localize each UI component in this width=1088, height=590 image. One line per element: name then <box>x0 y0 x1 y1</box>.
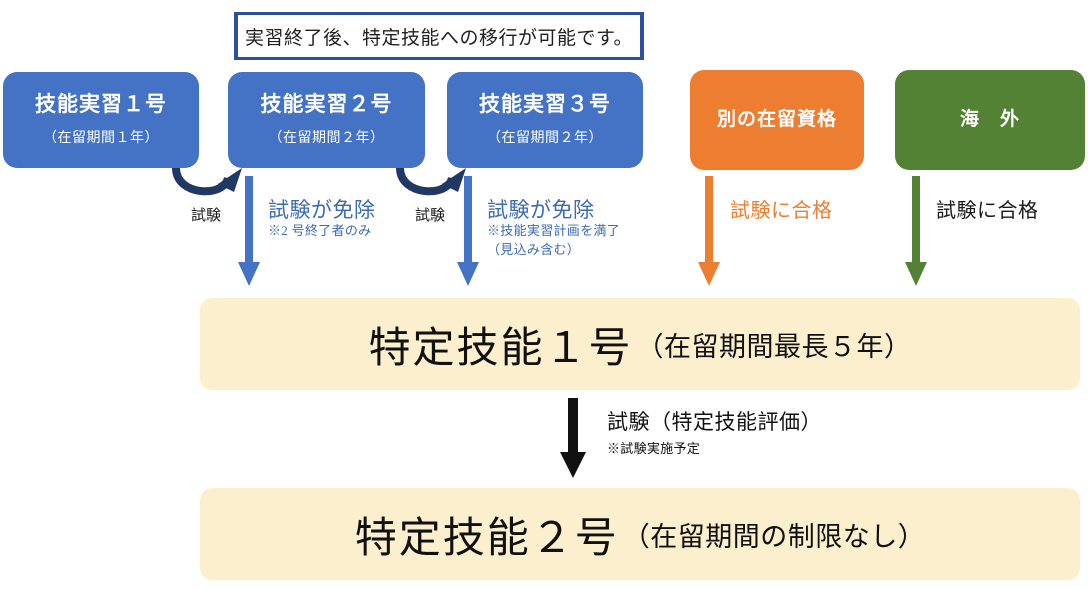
stage-subtitle: （在留期間１年） <box>43 127 159 147</box>
down-arrow-icon-from-betsu-no-zairyu-shikaku <box>696 176 722 288</box>
result-box-tokutei-ginou-1: 特定技能１号 （在留期間最長５年） <box>200 298 1080 390</box>
annotation-from-betsu-no-zairyu-shikaku: 試験に合格 <box>730 200 833 223</box>
visa-transition-diagram: 実習終了後、特定技能への移行が可能です。 技能実習１号 （在留期間１年） 技能実… <box>0 0 1088 590</box>
stage-title: 技能実習２号 <box>261 93 393 116</box>
result-subtitle: （在留期間の制限なし） <box>623 515 926 554</box>
annotation-main-text: 試験が免除 <box>268 198 376 222</box>
annotation-sub-text-line2: （見込み含む） <box>487 241 620 260</box>
stage-title: 技能実習１号 <box>35 93 167 116</box>
result-subtitle: （在留期間最長５年） <box>637 325 912 364</box>
stage-subtitle: （在留期間２年） <box>487 127 603 147</box>
stage-subtitle: （在留期間２年） <box>269 127 385 147</box>
stage-box-kaigai: 海 外 <box>895 70 1085 170</box>
stage-box-ginou-jisshu-2: 技能実習２号 （在留期間２年） <box>228 72 425 168</box>
stage-title: 海 外 <box>960 110 1020 131</box>
annotation-main-text: 試験に合格 <box>936 200 1039 223</box>
down-arrow-icon-from-ginou-2 <box>236 176 262 288</box>
stage-title: 別の在留資格 <box>717 110 837 131</box>
callout-text: 実習終了後、特定技能への移行が可能です。 <box>245 23 633 50</box>
stage-box-ginou-jisshu-1: 技能実習１号 （在留期間１年） <box>3 72 199 168</box>
result-title: 特定技能２号 <box>355 504 619 565</box>
stage-title: 技能実習３号 <box>479 93 611 116</box>
stage-box-ginou-jisshu-3: 技能実習３号 （在留期間２年） <box>447 72 643 168</box>
down-arrow-icon-from-kaigai <box>903 176 929 288</box>
annotation-main-text: 試験（特定技能評価） <box>607 410 822 435</box>
annotation-tokutei-1-to-2: 試験（特定技能評価） ※試験実施予定 <box>607 410 822 457</box>
curve-label-shiken-2to3: 試験 <box>398 204 462 225</box>
annotation-sub-text: ※試験実施予定 <box>607 438 822 457</box>
curved-arrow-icon-2to3 <box>392 166 468 206</box>
annotation-from-kaigai: 試験に合格 <box>936 200 1039 223</box>
stage-box-betsu-no-zairyu-shikaku: 別の在留資格 <box>690 70 864 170</box>
annotation-main-text: 試験に合格 <box>730 200 833 223</box>
curve-label-shiken-1to2: 試験 <box>174 204 238 225</box>
annotation-main-text: 試験が免除 <box>487 198 620 222</box>
annotation-sub-text: ※2 号終了者のみ <box>268 222 376 241</box>
annotation-from-ginou-3: 試験が免除 ※技能実習計画を満了 （見込み含む） <box>487 198 620 260</box>
callout-box: 実習終了後、特定技能への移行が可能です。 <box>234 12 644 60</box>
down-arrow-icon-tokutei-1-to-2 <box>556 398 590 480</box>
result-box-tokutei-ginou-2: 特定技能２号 （在留期間の制限なし） <box>200 488 1080 580</box>
down-arrow-icon-from-ginou-3 <box>455 176 481 288</box>
result-title: 特定技能１号 <box>368 314 632 375</box>
annotation-from-ginou-2: 試験が免除 ※2 号終了者のみ <box>268 198 376 241</box>
curved-arrow-icon-1to2 <box>168 166 244 206</box>
callout-inner-border: 実習終了後、特定技能への移行が可能です。 <box>237 14 641 58</box>
annotation-sub-text-line1: ※技能実習計画を満了 <box>487 222 620 241</box>
